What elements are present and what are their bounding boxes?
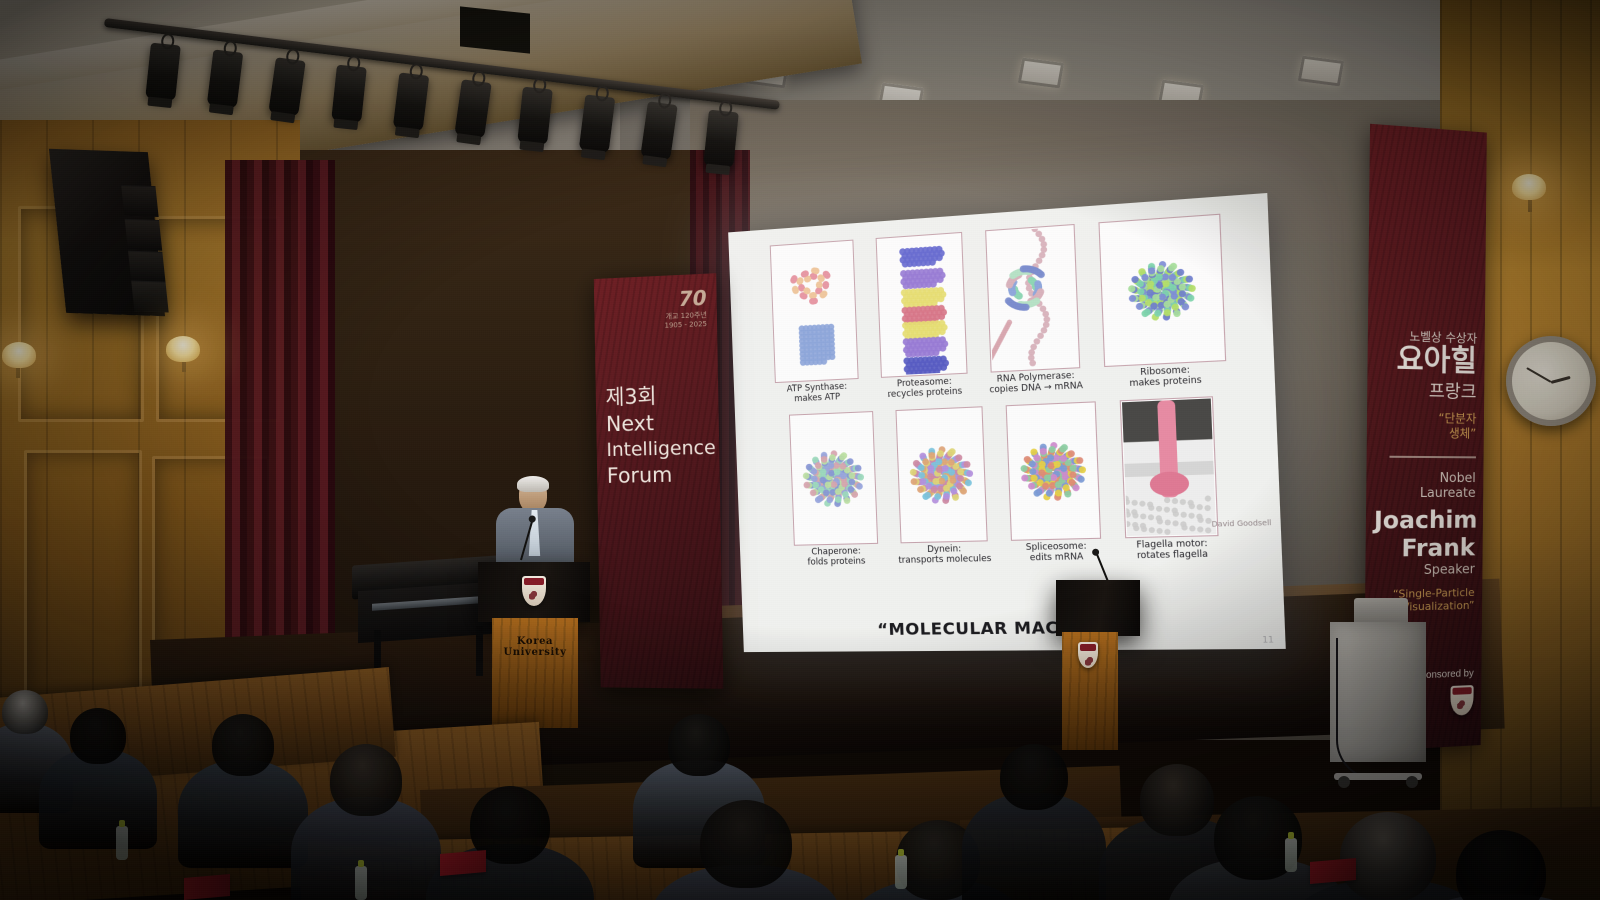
audience-member-head xyxy=(2,690,48,734)
slide-cell-chaperone: Chaperone:folds proteins xyxy=(782,411,886,568)
molecule-image-spliceosome xyxy=(1006,401,1101,541)
projection-screen: ATP Synthase:makes ATPProteasome:recycle… xyxy=(728,193,1286,652)
stage-spotlight xyxy=(145,43,181,102)
ku-crest-icon xyxy=(1450,685,1473,716)
banner-right-speaker-name: Joachim Frank xyxy=(1374,505,1476,562)
av-equipment-cart xyxy=(1330,598,1426,788)
banner-left-line2: Next xyxy=(606,408,709,438)
banner-right-nobel-2: Laureate xyxy=(1374,487,1476,502)
cart-cable xyxy=(1336,638,1394,780)
piano-leg xyxy=(476,626,483,676)
recessed-ceiling-light xyxy=(1018,58,1065,89)
banner-right-kr-sub1: “단분자 xyxy=(1375,410,1476,427)
molecule-caption-proteasome: Proteasome:recycles proteins xyxy=(874,376,976,400)
anniversary-70-logo: 70 xyxy=(679,286,707,311)
molecule-image-atp-synthase xyxy=(770,240,859,383)
molecule-caption-atp-synthase: ATP Synthase:makes ATP xyxy=(768,382,866,406)
wall-panel-door xyxy=(24,450,142,706)
molecule-caption-ribosome: Ribosome:makes proteins xyxy=(1097,364,1235,391)
slide-page-number: 11 xyxy=(1262,635,1274,645)
slide-cell-dynein: Dynein:transports molecules xyxy=(888,406,996,566)
slide-cell-proteasome: Proteasome:recycles proteins xyxy=(869,231,976,400)
molecule-image-chaperone xyxy=(789,411,878,546)
banner-right-role: Speaker xyxy=(1373,563,1475,580)
recessed-ceiling-light xyxy=(1298,56,1345,87)
slide-credit: David Goodsell xyxy=(1211,519,1271,529)
podium-main-top xyxy=(478,562,590,622)
molecule-image-ribosome xyxy=(1098,214,1226,367)
molecule-caption-chaperone: Chaperone:folds proteins xyxy=(787,547,886,568)
water-bottle xyxy=(1285,838,1297,872)
stage-spotlight xyxy=(331,65,367,124)
banner-right-kr-mid: 프랑크 xyxy=(1375,375,1477,403)
molecule-image-proteasome xyxy=(876,232,968,378)
banner-left-line4: Forum xyxy=(607,461,710,490)
audience-member-head xyxy=(1340,812,1436,900)
podium-name-plate: Korea University xyxy=(492,636,578,658)
auditorium-scene: ATP Synthase:makes ATPProteasome:recycle… xyxy=(0,0,1600,900)
podium-second-top xyxy=(1056,580,1140,636)
molecule-image-dynein xyxy=(895,406,987,543)
caption-line-2: transports molecules xyxy=(894,554,996,566)
molecule-caption-rna-polymerase: RNA Polymerase:copies DNA → mRNA xyxy=(983,371,1088,396)
wall-sconce-light xyxy=(166,336,200,362)
banner-left-line1: 제3회 xyxy=(605,381,708,411)
molecule-caption-dynein: Dynein:transports molecules xyxy=(894,544,996,566)
event-banner-left: 70 개교 120주년 1905 - 2025 제3회 Next Intelli… xyxy=(594,273,724,689)
programme-booklet xyxy=(440,850,486,876)
cart-wheel xyxy=(1406,776,1418,788)
stage-spotlight xyxy=(703,109,739,168)
molecule-caption-flagella-motor: Flagella motor:rotates flagella xyxy=(1118,539,1228,562)
speaker-hair xyxy=(517,476,549,492)
slide-cell-spliceosome: Spliceosome:edits mRNA xyxy=(998,401,1109,564)
audience-member-head xyxy=(330,744,402,816)
banner-right-kr-big: 요아힐 xyxy=(1375,343,1477,377)
slide-cell-atp-synthase: ATP Synthase:makes ATP xyxy=(763,239,867,405)
banner-right-nobel-1: Nobel xyxy=(1374,471,1476,486)
molecule-image-rna-polymerase xyxy=(985,224,1080,373)
audience-member-head xyxy=(212,714,274,776)
slide-cell-flagella-motor: Flagella motor:rotates flagella xyxy=(1112,396,1227,562)
audience-member-body xyxy=(178,760,308,868)
wall-sconce-light xyxy=(2,342,36,368)
wall-clock xyxy=(1506,336,1596,426)
ceiling-loudspeaker xyxy=(460,6,530,53)
slide-cell-ribosome: Ribosome:makes proteins xyxy=(1091,213,1235,391)
audience-member-body xyxy=(39,749,157,849)
banner-left-title: 제3회 Next Intelligence Forum xyxy=(605,381,710,490)
banner-right-kr-sub2: 생체” xyxy=(1375,425,1476,442)
water-bottle xyxy=(355,866,367,900)
podium-main-base: Korea University xyxy=(492,618,578,728)
wall-sconce-light xyxy=(1512,174,1546,200)
banner-divider xyxy=(1389,455,1476,458)
stage-spotlight xyxy=(517,87,553,146)
programme-booklet xyxy=(184,874,230,900)
caption-line-2: rotates flagella xyxy=(1118,549,1227,561)
presentation-slide: ATP Synthase:makes ATPProteasome:recycle… xyxy=(728,193,1286,652)
slide-cell-rna-polymerase: RNA Polymerase:copies DNA → mRNA xyxy=(978,223,1089,395)
ku-crest-icon xyxy=(1078,642,1098,668)
audience-member-head xyxy=(1000,744,1068,810)
ku-crest-icon xyxy=(522,576,546,606)
anniversary-block: 70 개교 120주년 1905 - 2025 xyxy=(604,286,707,333)
line-array-loudspeaker xyxy=(49,149,165,317)
water-bottle xyxy=(116,826,128,860)
audience-member-head xyxy=(700,800,792,888)
slide-title: “MOLECULAR MACHINES” xyxy=(756,615,1269,642)
caption-line-2: folds proteins xyxy=(787,557,886,569)
audience-member-head xyxy=(668,714,730,776)
banner-left-line3: Intelligence xyxy=(606,436,709,463)
molecule-image-flagella-motor xyxy=(1120,396,1219,538)
water-bottle xyxy=(895,855,907,889)
slide-row-top: ATP Synthase:makes ATPProteasome:recycle… xyxy=(742,211,1259,406)
programme-booklet xyxy=(1310,858,1356,884)
audience-member-head xyxy=(70,708,126,764)
slide-row-bottom: Chaperone:folds proteinsDynein:transport… xyxy=(749,394,1266,569)
cart-wheel xyxy=(1338,776,1350,788)
audience-member-head xyxy=(1140,764,1214,836)
podium-second-base xyxy=(1062,632,1118,750)
